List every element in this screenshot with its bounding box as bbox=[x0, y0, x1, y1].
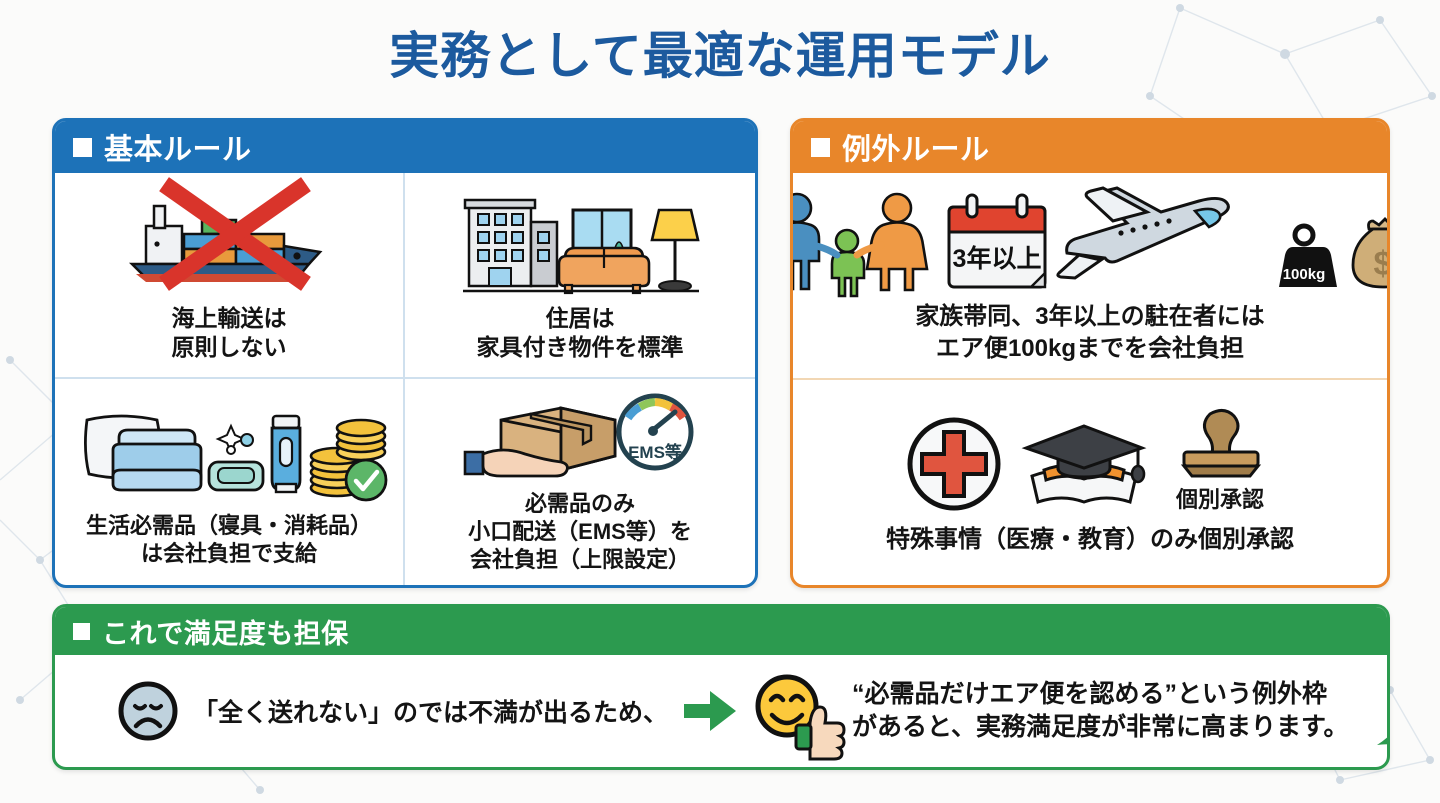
apartment-building-icon bbox=[455, 192, 705, 296]
happy-face-group bbox=[752, 673, 838, 749]
satisfaction-text-line: があると、実務満足度が非常に高まります。 bbox=[852, 711, 1349, 744]
exception-rules-body: 3年以上 bbox=[793, 173, 1387, 585]
quadrant-label-line: 生活必需品（寝具・消耗品） bbox=[86, 512, 372, 540]
basic-quadrant-no-sea-freight: 海上輸送は 原則しない bbox=[55, 173, 405, 379]
calendar-label: 3年以上 bbox=[953, 244, 1042, 273]
quadrant-label: 住居は 家具付き物件を標準 bbox=[477, 304, 684, 362]
exception-rules-card: 例外ルール bbox=[790, 118, 1390, 588]
exception-row-family-air-allowance: 3年以上 bbox=[793, 173, 1387, 380]
hand-holding-box-icon: EMS等 bbox=[465, 390, 695, 482]
quadrant-label-line: 小口配送（EMS等）を bbox=[468, 518, 692, 546]
exception-label-line: エア便100kgまでを会社負担 bbox=[915, 333, 1264, 364]
weight-icon: 100kg bbox=[1271, 223, 1337, 293]
stamp-icon bbox=[1164, 408, 1276, 480]
satisfaction-banner-body: 「全く送れない」のでは不満が出るため、 “必需品だけエア便を認める”という例外枠 bbox=[55, 655, 1387, 767]
exception-label-line: 特殊事情（医療・教育）のみ個別承認 bbox=[886, 524, 1294, 555]
calendar-icon: 3年以上 bbox=[949, 195, 1045, 287]
airplane-icon bbox=[1058, 188, 1229, 278]
satisfaction-banner-header: これで満足度も担保 bbox=[55, 607, 1387, 655]
quadrant-label-line: 住居は bbox=[477, 304, 684, 333]
basic-rules-card: 基本ルール bbox=[52, 118, 758, 588]
soap-icon bbox=[209, 426, 263, 490]
quadrant-label: 必需品のみ 小口配送（EMS等）を 会社負担（上限設定） bbox=[468, 490, 692, 573]
slide-canvas: 実務として最適な運用モデル 基本ルール bbox=[0, 0, 1440, 803]
satisfaction-banner-card: これで満足度も担保 「全く送れない」のでは不満が出るため、 bbox=[52, 604, 1390, 770]
page-title: 実務として最適な運用モデル bbox=[0, 16, 1440, 88]
satisfaction-banner-header-label: これで満足度も担保 bbox=[102, 612, 349, 651]
exception-icon-group: 3年以上 bbox=[790, 187, 1390, 291]
pillow-icon bbox=[79, 402, 379, 504]
dissatisfaction-text: 「全く送れない」のでは不満が出るため、 bbox=[193, 693, 668, 729]
exception-row-special-approval: 個別承認 特殊事情（医療・教育）のみ個別承認 bbox=[793, 380, 1387, 585]
quadrant-label: 海上輸送は 原則しない bbox=[172, 304, 287, 362]
green-check-icon bbox=[346, 460, 386, 500]
exception-row-label: 家族帯同、3年以上の駐在者には エア便100kgまでを会社負担 bbox=[915, 301, 1264, 363]
basic-quadrant-daily-necessities: 生活必需品（寝具・消耗品） は会社負担で支給 bbox=[55, 379, 405, 585]
exception-icon-group: 個別承認 bbox=[904, 410, 1276, 514]
basic-rules-header: 基本ルール bbox=[55, 121, 755, 173]
toothpaste-icon bbox=[272, 416, 300, 492]
quadrant-label-line: は会社負担で支給 bbox=[86, 540, 372, 568]
square-bullet-icon bbox=[73, 623, 90, 640]
quadrant-label-line: 海上輸送は bbox=[172, 304, 287, 333]
basic-rules-header-label: 基本ルール bbox=[104, 126, 252, 168]
exception-row-label: 特殊事情（医療・教育）のみ個別承認 bbox=[886, 524, 1294, 555]
stamp-icon-group: 個別承認 bbox=[1164, 408, 1276, 514]
satisfaction-text: “必需品だけエア便を認める”という例外枠 があると、実務満足度が非常に高まります… bbox=[852, 678, 1349, 744]
stamp-label: 個別承認 bbox=[1176, 482, 1264, 514]
thumbs-up-icon bbox=[794, 705, 842, 751]
sad-face-icon bbox=[117, 680, 179, 742]
right-arrow-icon bbox=[682, 688, 738, 734]
up-arrow-icon bbox=[1357, 659, 1390, 763]
quadrant-label-line: 会社負担（上限設定） bbox=[468, 546, 692, 574]
quadrant-icon-group bbox=[79, 396, 379, 504]
red-x-icon bbox=[155, 179, 315, 289]
svg-text:$: $ bbox=[1374, 245, 1390, 283]
basic-quadrant-furnished-housing: 住居は 家具付き物件を標準 bbox=[405, 173, 755, 379]
quadrant-icon-group: EMS等 bbox=[465, 390, 695, 482]
graduation-book-icon bbox=[1014, 414, 1154, 514]
exception-label-line: 家族帯同、3年以上の駐在者には bbox=[915, 301, 1264, 332]
quadrant-label-line: 家具付き物件を標準 bbox=[477, 333, 684, 362]
gauge-icon: EMS等 bbox=[619, 396, 691, 468]
square-bullet-icon bbox=[811, 138, 830, 157]
weight-label: 100kg bbox=[1283, 266, 1326, 283]
quadrant-label-line: 必需品のみ bbox=[468, 490, 692, 518]
quadrant-label: 生活必需品（寝具・消耗品） は会社負担で支給 bbox=[86, 512, 372, 567]
satisfaction-text-line: “必需品だけエア便を認める”という例外枠 bbox=[852, 678, 1349, 711]
square-bullet-icon bbox=[73, 138, 92, 157]
quadrant-label-line: 原則しない bbox=[172, 333, 287, 362]
family-icon: 3年以上 bbox=[790, 191, 1261, 291]
exception-rules-header: 例外ルール bbox=[793, 121, 1387, 173]
exception-rules-header-label: 例外ルール bbox=[842, 126, 990, 168]
basic-quadrant-small-parcel-ems: EMS等 必需品のみ 小口配送（EMS等）を 会社負担（上限設定） bbox=[405, 379, 755, 585]
basic-rules-grid: 海上輸送は 原則しない bbox=[55, 173, 755, 585]
money-bag-icon: $ bbox=[1347, 213, 1390, 291]
quadrant-icon-group bbox=[455, 188, 705, 296]
medical-cross-icon bbox=[904, 414, 1004, 514]
gauge-label: EMS等 bbox=[628, 442, 682, 462]
